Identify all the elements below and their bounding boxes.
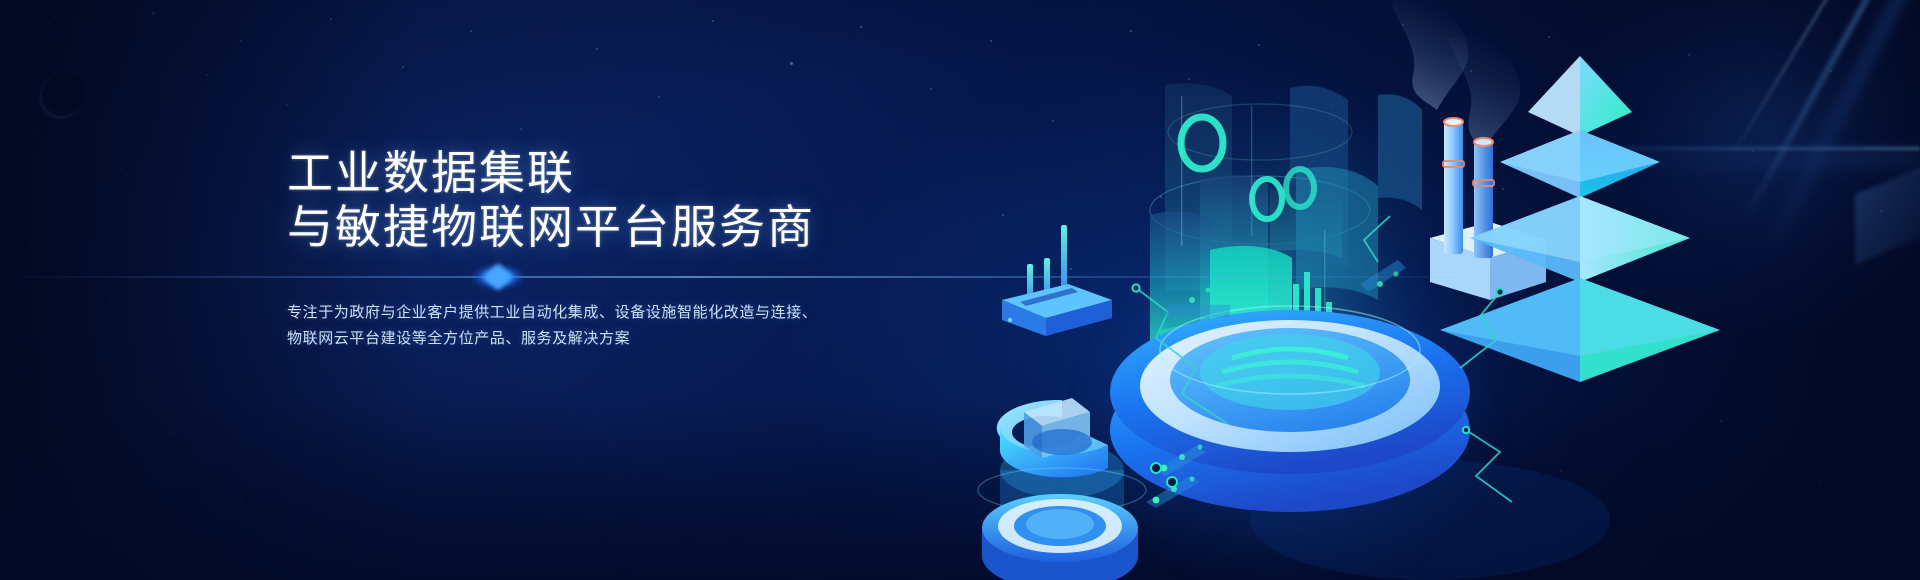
page-title: 工业数据集联 与敏捷物联网平台服务商: [287, 146, 907, 254]
headline-line-2: 与敏捷物联网平台服务商: [287, 200, 907, 254]
data-dome: [1110, 306, 1470, 512]
subtitle-line-2: 物联网云平台建设等全方位产品、服务及解决方案: [287, 326, 907, 352]
ring-base: [982, 494, 1138, 580]
hero-text-block: 工业数据集联 与敏捷物联网平台服务商 专注于为政府与企业客户提供工业自动化集成、…: [287, 146, 907, 352]
hero-illustration: [960, 0, 1720, 580]
wireless-router: [1002, 225, 1112, 336]
hero-banner: 工业数据集联 与敏捷物联网平台服务商 专注于为政府与企业客户提供工业自动化集成、…: [0, 0, 1920, 580]
title-divider: [0, 276, 1540, 278]
headline-line-1: 工业数据集联: [287, 147, 575, 199]
subtitle-line-1: 专注于为政府与企业客户提供工业自动化集成、设备设施智能化改造与连接、: [287, 304, 817, 321]
page-subtitle: 专注于为政府与企业客户提供工业自动化集成、设备设施智能化改造与连接、 物联网云平…: [287, 300, 907, 352]
